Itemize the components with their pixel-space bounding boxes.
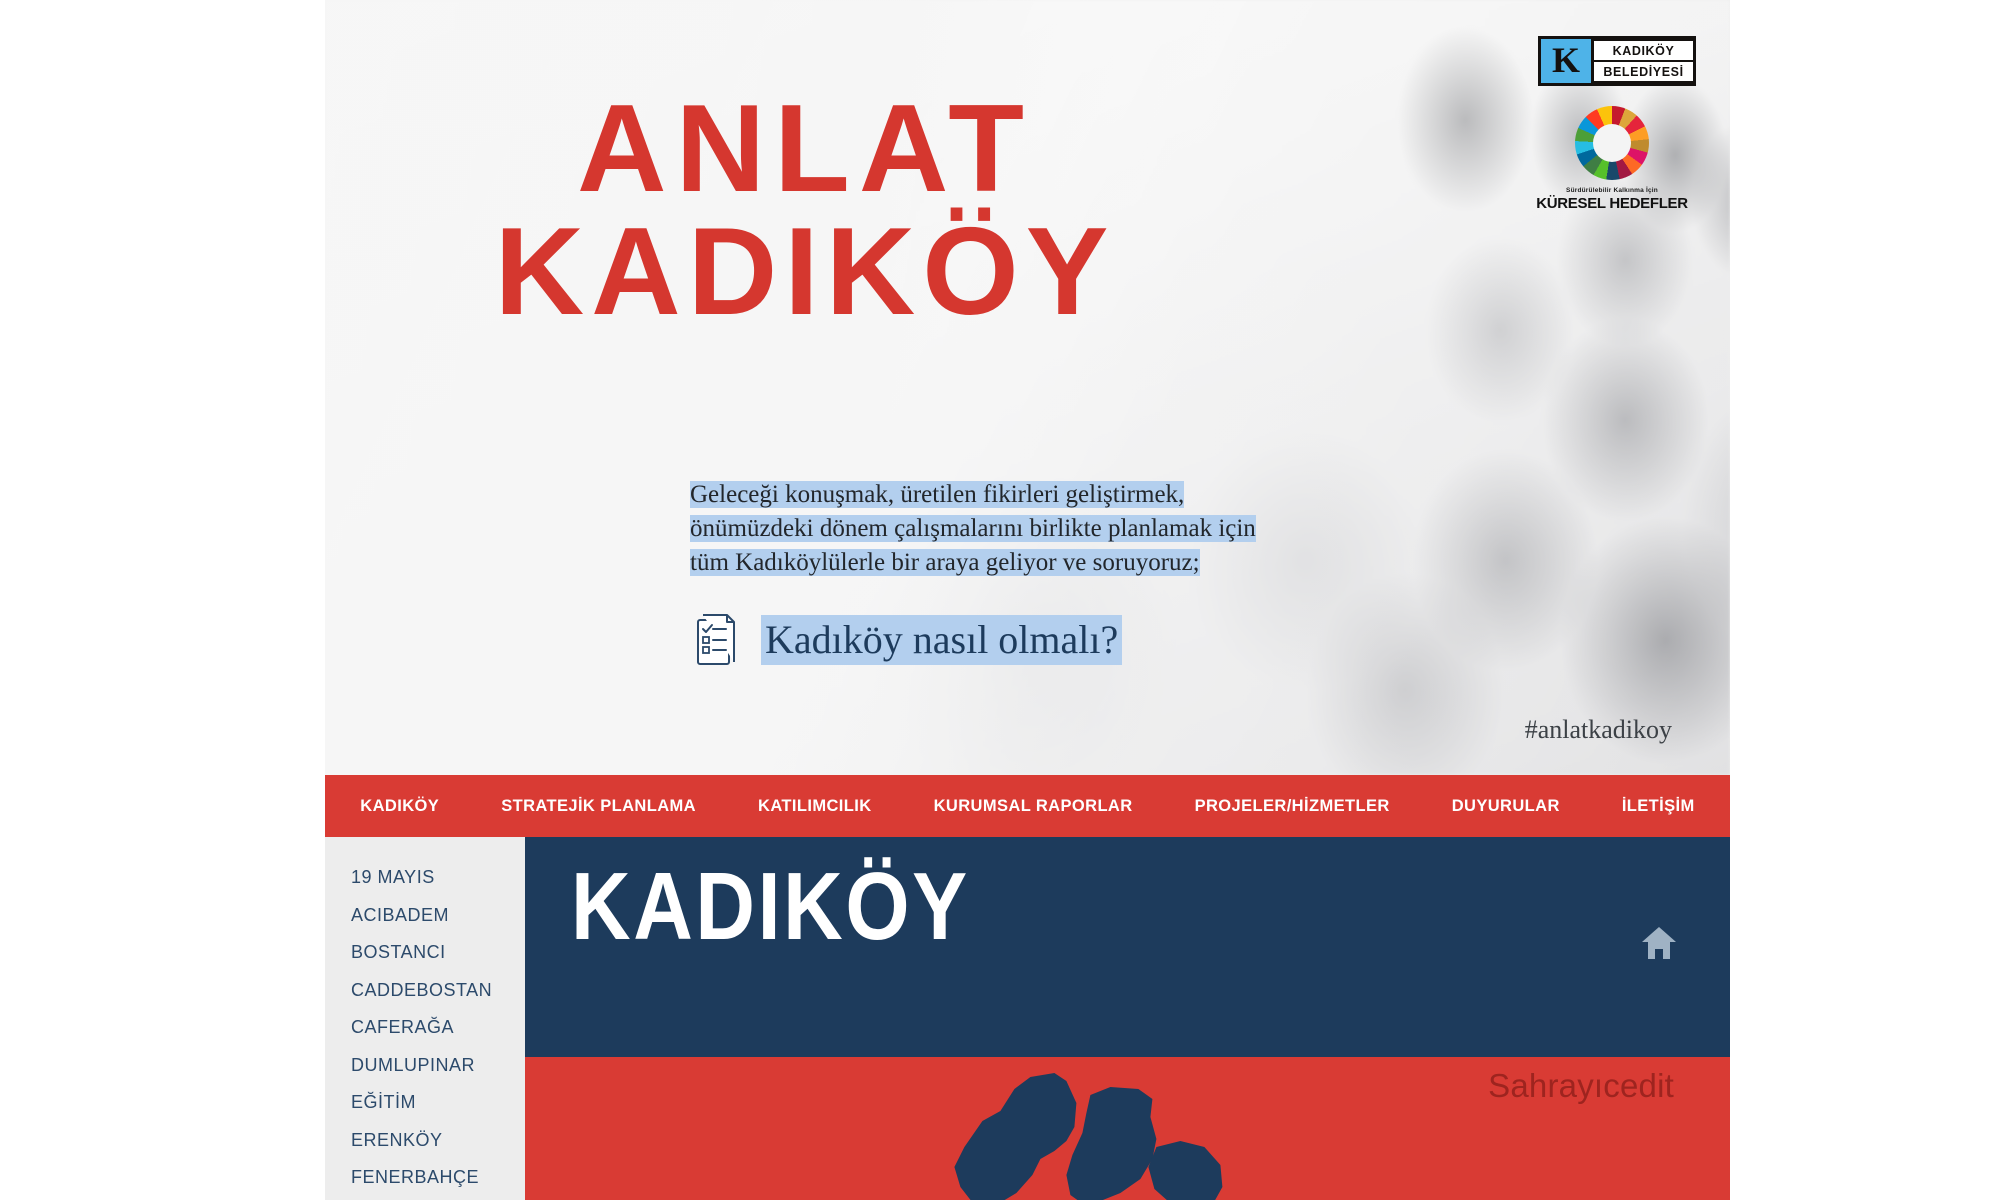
page-gutter-right [1730,0,2003,1200]
nav-item-iletisim[interactable]: İLETİŞİM [1591,797,1726,816]
page-gutter-left [0,0,325,1200]
hero-title: ANLAT KADIKÖY [325,88,1285,334]
sidebar-item-19-mayis[interactable]: 19 MAYIS [351,859,525,897]
hero-question-text: Kadıköy nasıl olmalı? [761,615,1122,665]
sidebar-item-dumlupinar[interactable]: DUMLUPINAR [351,1047,525,1085]
screenshot-root: ANLAT KADIKÖY K KADIKÖY BELEDİYESİ Sürdü… [0,0,2003,1200]
kadikoy-logo-words: KADIKÖY BELEDİYESİ [1591,39,1693,83]
nav-item-projeler-hizmetler[interactable]: PROJELER/HİZMETLER [1164,797,1421,816]
sidebar-item-erenkoy[interactable]: ERENKÖY [351,1122,525,1160]
hero-lead-line-2: önümüzdeki dönem çalışmalarını birlikte … [690,515,1256,542]
sidebar-item-egitim[interactable]: EĞİTİM [351,1084,525,1122]
nav-item-katilimcilik[interactable]: KATILIMCILIK [727,797,903,816]
hero-hashtag: #anlatkadikoy [1525,715,1672,745]
hero-lead-line-1: Geleceği konuşmak, üretilen fikirleri ge… [690,481,1184,508]
hero-title-line-2: KADIKÖY [325,211,1285,334]
lower-section: 19 MAYIS ACIBADEM BOSTANCI CADDEBOSTAN C… [325,837,1730,1200]
sdg-title: KÜRESEL HEDEFLER [1528,195,1696,212]
sdg-subtitle: Sürdürülebilir Kalkınma İçin [1528,187,1696,194]
checklist-document-icon [693,612,739,668]
sidebar-item-acibadem[interactable]: ACIBADEM [351,897,525,935]
sidebar-item-caddebostan[interactable]: CADDEBOSTAN [351,972,525,1010]
hero-section: ANLAT KADIKÖY K KADIKÖY BELEDİYESİ Sürdü… [325,0,1730,775]
hero-lead-line-3: tüm Kadıköylülerle bir araya geliyor ve … [690,549,1200,576]
hero-question-row: Kadıköy nasıl olmalı? [693,612,1122,668]
district-banner: Sahrayıcedit [525,1057,1730,1200]
sdg-color-wheel-icon [1575,106,1649,180]
kadikoy-monogram-icon: K [1541,39,1591,83]
content-banner-title: KADIKÖY [571,859,970,955]
neighborhood-sidebar: 19 MAYIS ACIBADEM BOSTANCI CADDEBOSTAN C… [325,837,525,1200]
kadikoy-monogram-letter: K [1552,42,1580,78]
kadikoy-logo-word-1: KADIKÖY [1594,41,1693,60]
logo-stack: K KADIKÖY BELEDİYESİ Sürdürülebilir Kalk… [1528,36,1696,212]
kadikoy-logo-word-2: BELEDİYESİ [1594,62,1693,81]
nav-item-duyurular[interactable]: DUYURULAR [1421,797,1591,816]
content-banner: KADIKÖY [525,837,1730,1057]
main-navigation: KADIKÖY STRATEJİK PLANLAMA KATILIMCILIK … [325,775,1730,837]
nav-item-stratejik-planlama[interactable]: STRATEJİK PLANLAMA [470,797,727,816]
sidebar-item-bostanci[interactable]: BOSTANCI [351,934,525,972]
sidebar-item-fenerbahce[interactable]: FENERBAHÇE [351,1159,525,1197]
nav-item-kurumsal-raporlar[interactable]: KURUMSAL RAPORLAR [903,797,1164,816]
sdg-logo[interactable]: Sürdürülebilir Kalkınma İçin KÜRESEL HED… [1528,106,1696,212]
hero-title-line-1: ANLAT [325,88,1285,211]
content-panel: KADIKÖY Sahrayıcedit [525,837,1730,1200]
home-icon[interactable] [1640,925,1678,961]
kadikoy-district-map-shape [904,1057,1334,1200]
hero-lead-paragraph: Geleceği konuşmak, üretilen fikirleri ge… [690,478,1440,580]
sidebar-item-caferaga[interactable]: CAFERAĞA [351,1009,525,1047]
site-column: ANLAT KADIKÖY K KADIKÖY BELEDİYESİ Sürdü… [325,0,1730,1200]
district-name-label: Sahrayıcedit [1488,1067,1674,1105]
nav-item-kadikoy[interactable]: KADIKÖY [329,797,470,816]
kadikoy-belediyesi-logo[interactable]: K KADIKÖY BELEDİYESİ [1538,36,1696,86]
